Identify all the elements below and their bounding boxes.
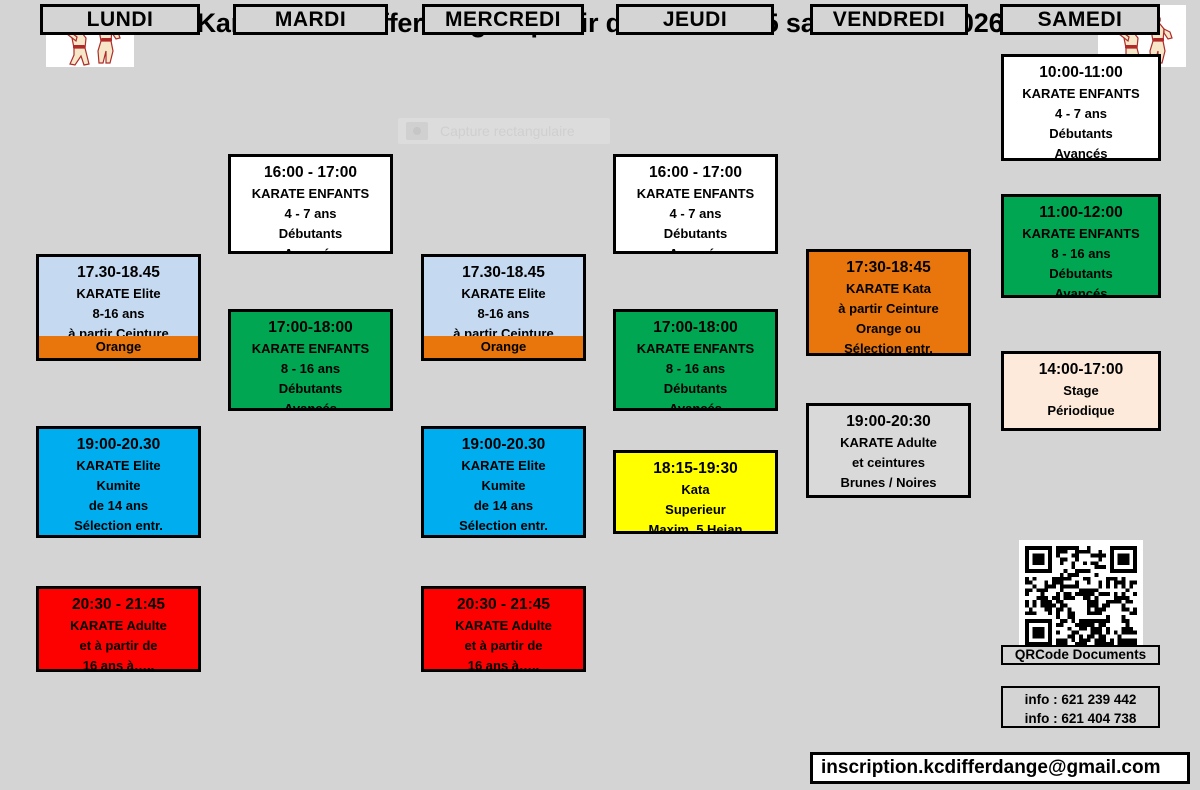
class-time: 20:30 - 21:45 — [424, 594, 583, 616]
class-time: 17.30-18.45 — [39, 262, 198, 284]
class-detail-line: de 14 ans — [39, 496, 198, 516]
class-card[interactable]: 20:30 - 21:45KARATE Adulteet à partir de… — [36, 586, 201, 672]
class-detail-line: Kumite — [39, 476, 198, 496]
day-header-samedi: SAMEDI — [1000, 4, 1160, 35]
class-detail-line: Stage — [1004, 381, 1158, 401]
class-detail-line: Avancés — [616, 399, 775, 411]
class-detail-line: KARATE ENFANTS — [616, 184, 775, 204]
class-detail-line: KARATE Elite — [39, 284, 198, 304]
contact-email-text: inscription.kcdifferdange@gmail.com — [821, 757, 1160, 779]
class-detail-line: et ceintures — [809, 453, 968, 473]
capture-rectangular-overlay: Capture rectangulaire — [398, 118, 610, 144]
class-detail-line: 8 - 16 ans — [1004, 244, 1158, 264]
class-time: 14:00-17:00 — [1004, 359, 1158, 381]
class-detail-line: à partir Ceinture — [809, 299, 968, 319]
class-detail-line: KARATE ENFANTS — [231, 184, 390, 204]
class-card[interactable]: 16:00 - 17:00KARATE ENFANTS4 - 7 ansDébu… — [613, 154, 778, 254]
class-card[interactable]: 17.30-18.45KARATE Elite8-16 ansà partir … — [421, 254, 586, 361]
qr-code-canvas — [1025, 546, 1137, 646]
belt-colour-strip: Orange — [424, 336, 583, 358]
day-header-vendredi: VENDREDI — [810, 4, 968, 35]
contact-info-box: info : 621 239 442 info : 621 404 738 — [1001, 686, 1160, 728]
class-card[interactable]: 11:00-12:00KARATE ENFANTS8 - 16 ansDébut… — [1001, 194, 1161, 298]
class-detail-line: 4 - 7 ans — [616, 204, 775, 224]
class-detail-line: 8-16 ans — [424, 304, 583, 324]
class-detail-line: Avancés — [1004, 284, 1158, 298]
class-detail-line: Débutants — [231, 224, 390, 244]
class-card[interactable]: 20:30 - 21:45KARATE Adulteet à partir de… — [421, 586, 586, 672]
day-header-mardi: MARDI — [233, 4, 388, 35]
class-detail-line: Débutants — [1004, 264, 1158, 284]
class-card[interactable]: 17:00-18:00KARATE ENFANTS8 - 16 ansDébut… — [228, 309, 393, 411]
class-time: 19:00-20.30 — [424, 434, 583, 456]
day-header-mercredi: MERCREDI — [422, 4, 584, 35]
belt-colour-strip: Orange — [39, 336, 198, 358]
qr-code-label: QRCode Documents — [1001, 645, 1160, 665]
class-card[interactable]: 19:00-20.30KARATE EliteKumitede 14 ansSé… — [36, 426, 201, 538]
capture-overlay-label: Capture rectangulaire — [440, 123, 575, 139]
class-detail-line: Périodique — [1004, 401, 1158, 421]
info-phone-2: info : 621 404 738 — [1003, 709, 1158, 728]
class-detail-line: Sélection entr. — [809, 339, 968, 356]
class-time: 16:00 - 17:00 — [231, 162, 390, 184]
class-detail-line: Avancés — [231, 399, 390, 411]
class-detail-line: 8 - 16 ans — [616, 359, 775, 379]
class-detail-line: Sélection entr. — [39, 516, 198, 536]
class-detail-line: Avancés — [616, 244, 775, 254]
class-detail-line: KARATE ENFANTS — [231, 339, 390, 359]
class-detail-line: Brunes / Noires — [809, 473, 968, 493]
class-detail-line: 4 - 7 ans — [1004, 104, 1158, 124]
class-detail-line: Kata — [616, 480, 775, 500]
class-card[interactable]: 17:30-18:45KARATE Kataà partir CeintureO… — [806, 249, 971, 356]
class-detail-line: KARATE Adulte — [424, 616, 583, 636]
class-time: 17:00-18:00 — [616, 317, 775, 339]
class-detail-line: KARATE Kata — [809, 279, 968, 299]
class-detail-line: KARATE Elite — [39, 456, 198, 476]
class-card[interactable]: 14:00-17:00StagePériodique — [1001, 351, 1161, 431]
class-detail-line: 8 - 16 ans — [231, 359, 390, 379]
class-card[interactable]: 16:00 - 17:00KARATE ENFANTS4 - 7 ansDébu… — [228, 154, 393, 254]
class-detail-line: Débutants — [231, 379, 390, 399]
class-card[interactable]: 17:00-18:00KARATE ENFANTS8 - 16 ansDébut… — [613, 309, 778, 411]
camera-icon — [406, 122, 428, 140]
class-card[interactable]: 10:00-11:00KARATE ENFANTS4 - 7 ansDébuta… — [1001, 54, 1161, 161]
class-time: 19:00-20:30 — [809, 411, 968, 433]
class-detail-line: 8-16 ans — [39, 304, 198, 324]
class-time: 17.30-18.45 — [424, 262, 583, 284]
class-detail-line: Kumite — [424, 476, 583, 496]
class-detail-line: 16 ans à….. — [424, 656, 583, 672]
info-phone-1: info : 621 239 442 — [1003, 690, 1158, 709]
contact-email-box[interactable]: inscription.kcdifferdange@gmail.com — [810, 752, 1190, 784]
class-detail-line: KARATE ENFANTS — [1004, 84, 1158, 104]
class-time: 19:00-20.30 — [39, 434, 198, 456]
class-detail-line: KARATE Adulte — [809, 433, 968, 453]
day-header-lundi: LUNDI — [40, 4, 200, 35]
class-detail-line: de 14 ans — [424, 496, 583, 516]
class-card[interactable]: 19:00-20:30KARATE Adulteet ceinturesBrun… — [806, 403, 971, 498]
class-time: 10:00-11:00 — [1004, 62, 1158, 84]
class-detail-line: KARATE Elite — [424, 456, 583, 476]
qr-code-icon[interactable] — [1019, 540, 1143, 652]
class-detail-line: Débutants — [616, 224, 775, 244]
class-detail-line: KARATE ENFANTS — [616, 339, 775, 359]
class-detail-line: Avancés — [231, 244, 390, 254]
class-detail-line: Sélection entr. — [424, 516, 583, 536]
class-detail-line: Maxim. 5 Heian — [616, 520, 775, 534]
class-detail-line: Débutants — [1004, 124, 1158, 144]
class-card[interactable]: 17.30-18.45KARATE Elite8-16 ansà partir … — [36, 254, 201, 361]
class-detail-line: 16 ans à….. — [39, 656, 198, 672]
class-detail-line: Débutants — [616, 379, 775, 399]
class-time: 20:30 - 21:45 — [39, 594, 198, 616]
class-time: 16:00 - 17:00 — [616, 162, 775, 184]
class-time: 11:00-12:00 — [1004, 202, 1158, 224]
class-card[interactable]: 18:15-19:30KataSuperieurMaxim. 5 Heian — [613, 450, 778, 534]
class-card[interactable]: 19:00-20.30KARATE EliteKumitede 14 ansSé… — [421, 426, 586, 538]
class-detail-line: et à partir de — [424, 636, 583, 656]
class-detail-line: et à partir de — [39, 636, 198, 656]
class-time: 18:15-19:30 — [616, 458, 775, 480]
class-detail-line: 4 - 7 ans — [231, 204, 390, 224]
class-detail-line: KARATE ENFANTS — [1004, 224, 1158, 244]
class-detail-line: KARATE Adulte — [39, 616, 198, 636]
class-detail-line: Avancés — [1004, 144, 1158, 161]
class-time: 17:00-18:00 — [231, 317, 390, 339]
class-detail-line: KARATE Elite — [424, 284, 583, 304]
day-header-jeudi: JEUDI — [616, 4, 774, 35]
class-detail-line: Superieur — [616, 500, 775, 520]
class-time: 17:30-18:45 — [809, 257, 968, 279]
class-detail-line: Orange ou — [809, 319, 968, 339]
